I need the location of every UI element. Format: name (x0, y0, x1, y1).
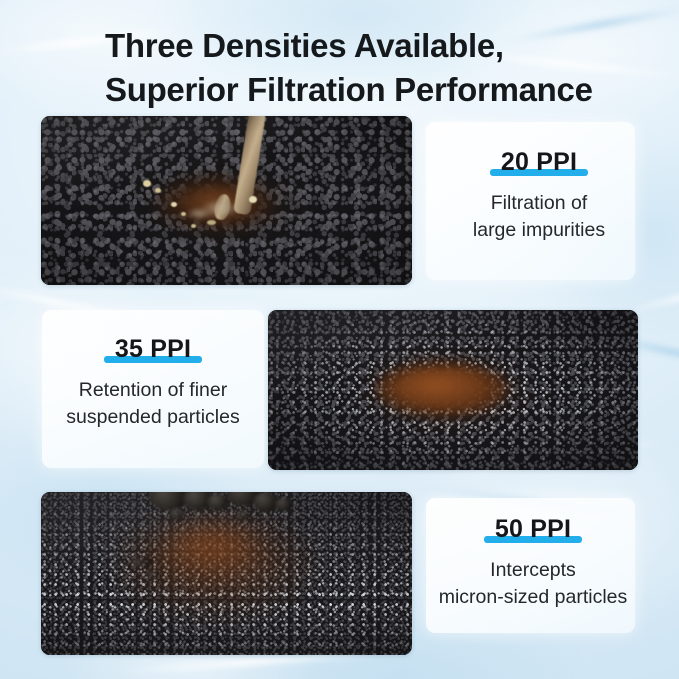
foam-photo-35ppi (268, 310, 638, 470)
page-title-line-1: Three Densities Available, (105, 27, 504, 64)
ppi-description: Retention of finer suspended particles (45, 377, 261, 431)
page-title: Three Densities Available, Superior Filt… (105, 24, 645, 112)
ppi-description: Filtration of large impurities (442, 190, 636, 244)
foam-vignette (41, 116, 412, 285)
page-title-line-2: Superior Filtration Performance (105, 68, 645, 112)
foam-photo-50ppi (41, 492, 412, 655)
info-card-20ppi-content: 20 PPI Filtration of large impurities (442, 148, 636, 244)
ppi-badge-50: 50 PPI (489, 515, 577, 544)
ppi-label: 50 PPI (495, 515, 571, 543)
foam-vignette (268, 310, 638, 470)
ppi-label: 20 PPI (501, 148, 577, 176)
ppi-label: 35 PPI (115, 335, 191, 363)
info-card-50ppi-content: 50 PPI Intercepts micron-sized particles (430, 515, 636, 611)
ppi-description: Intercepts micron-sized particles (430, 557, 636, 611)
foam-vignette (41, 492, 412, 655)
info-card-35ppi-content: 35 PPI Retention of finer suspended part… (45, 335, 261, 431)
ppi-badge-20: 20 PPI (495, 148, 583, 177)
foam-photo-20ppi (41, 116, 412, 285)
ppi-badge-35: 35 PPI (109, 335, 197, 364)
